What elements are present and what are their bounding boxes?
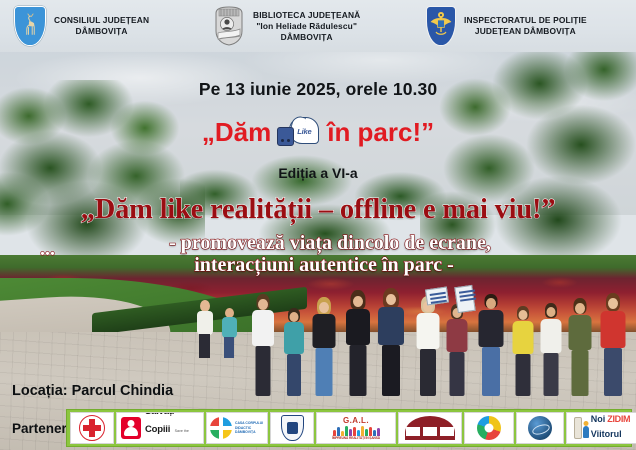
header-partner-consiliul-judetean: CONSILIUL JUDEȚEAN DÂMBOVIȚA	[0, 6, 212, 46]
partner-name: CASA CORPULUI DIDACTIC DÂMBOVIȚA	[235, 421, 264, 435]
person	[476, 292, 506, 396]
like-label: Like	[297, 127, 311, 136]
partner-logo-gal: G.A.L. ÎMPREUNĂ REALITĂȚI ÎN ȘANSĂ	[316, 412, 396, 444]
globe-icon	[528, 416, 552, 440]
protest-placard	[454, 285, 475, 313]
person	[282, 304, 306, 396]
header-line: INSPECTORATUL DE POLIȚIE	[464, 15, 587, 26]
partner-name: Salvați Copiii	[145, 412, 174, 435]
school-crest-icon	[281, 415, 304, 441]
colored-circle-icon	[477, 416, 501, 440]
header-partner-text: INSPECTORATUL DE POLIȚIE JUDEȚEAN DÂMBOV…	[464, 15, 587, 37]
header-partner-text: CONSILIUL JUDEȚEAN DÂMBOVIȚA	[54, 15, 149, 37]
partner-name-word-1: Noi	[591, 414, 606, 424]
deer-shield-icon	[14, 6, 46, 46]
partner-subtitle: ÎMPREUNĂ REALITĂȚI ÎN ȘANSĂ	[332, 436, 380, 440]
person	[222, 308, 238, 358]
red-cross-icon	[79, 415, 105, 441]
header-line: "Ion Heliade Rădulescu"	[253, 21, 360, 32]
partner-logo-school-crest	[270, 412, 314, 444]
person	[598, 292, 628, 396]
subtitle-line-2: interacțiuni autentice în parc -	[6, 254, 636, 277]
partner-logo-museum	[398, 412, 462, 444]
eagle-glyph	[426, 6, 456, 46]
subtitle-line-1: - promovează viața dincolo de ecrane,	[12, 232, 636, 255]
person	[510, 302, 536, 396]
header-partner-politie: INSPECTORATUL DE POLIȚIE JUDEȚEAN DÂMBOV…	[426, 6, 636, 46]
person	[414, 294, 442, 396]
library-emblem-glyph	[212, 5, 246, 47]
poster-root: CONSILIUL JUDEȚEAN DÂMBOVIȚA	[0, 0, 636, 450]
partner-name: G.A.L.	[343, 416, 369, 425]
people-group-icon	[333, 425, 380, 436]
partner-name-word-2: ZIDIM	[607, 414, 630, 424]
header-line: DÂMBOVIȚA	[253, 32, 360, 43]
title-text-after: în parc!”	[327, 115, 434, 149]
event-title: „Dăm Like în parc!”	[0, 115, 636, 149]
person	[196, 300, 214, 358]
partner-logo-casa-corpului-didactic: CASA CORPULUI DIDACTIC DÂMBOVIȚA	[206, 412, 268, 444]
header-partner-text: BIBLIOTECA JUDEȚEANĂ "Ion Heliade Rădule…	[253, 10, 360, 43]
partner-logo-text: Noi ZIDIM Viitorul	[591, 414, 631, 442]
partners-logo-strip: Salvați Copiii Save the Children Romania…	[66, 409, 632, 447]
building-icon	[405, 416, 455, 440]
library-emblem-icon	[212, 5, 246, 47]
protest-placard	[425, 287, 449, 306]
header-line: CONSILIUL JUDEȚEAN	[54, 15, 149, 26]
deer-glyph	[22, 13, 39, 37]
institution-header: CONSILIUL JUDEȚEAN DÂMBOVIȚA	[0, 0, 636, 52]
title-text-before: „Dăm	[202, 115, 271, 149]
partner-logo-text: Salvați Copiii Save the Children Romania	[145, 412, 199, 444]
partner-logo-red-cross	[70, 412, 114, 444]
person	[376, 288, 406, 396]
person	[250, 292, 276, 396]
person	[344, 290, 372, 396]
header-line: DÂMBOVIȚA	[54, 26, 149, 37]
police-shield-icon	[426, 6, 456, 46]
partner-logo-noi-zidim-viitorul: Noi ZIDIM Viitorul	[566, 412, 636, 444]
crowd-of-people	[248, 284, 636, 396]
ccd-wheel-icon	[210, 417, 232, 439]
partner-logo-salvati-copiii: Salvați Copiii Save the Children Romania	[116, 412, 204, 444]
edition-label: Ediția a VI-a	[0, 165, 636, 181]
facebook-like-icon: Like	[277, 117, 321, 147]
person	[444, 300, 470, 396]
header-line: BIBLIOTECA JUDEȚEANĂ	[253, 10, 360, 21]
partner-logo-globe	[516, 412, 564, 444]
event-date: Pe 13 iunie 2025, orele 10.30	[0, 79, 636, 100]
partner-logo-colored-circle	[464, 412, 514, 444]
tower-builder-icon	[574, 416, 589, 440]
person	[310, 296, 338, 396]
person	[566, 296, 594, 396]
header-partner-biblioteca: BIBLIOTECA JUDEȚEANĂ "Ion Heliade Rădule…	[212, 5, 426, 47]
partner-name-word-3: Viitorul	[591, 429, 622, 439]
save-the-children-icon	[121, 417, 141, 439]
main-slogan: „Dăm like realității – offline e mai viu…	[0, 193, 636, 227]
header-line: JUDEȚEAN DÂMBOVIȚA	[464, 26, 587, 37]
event-location: Locația: Parcul Chindia	[12, 383, 173, 399]
person	[538, 300, 564, 396]
